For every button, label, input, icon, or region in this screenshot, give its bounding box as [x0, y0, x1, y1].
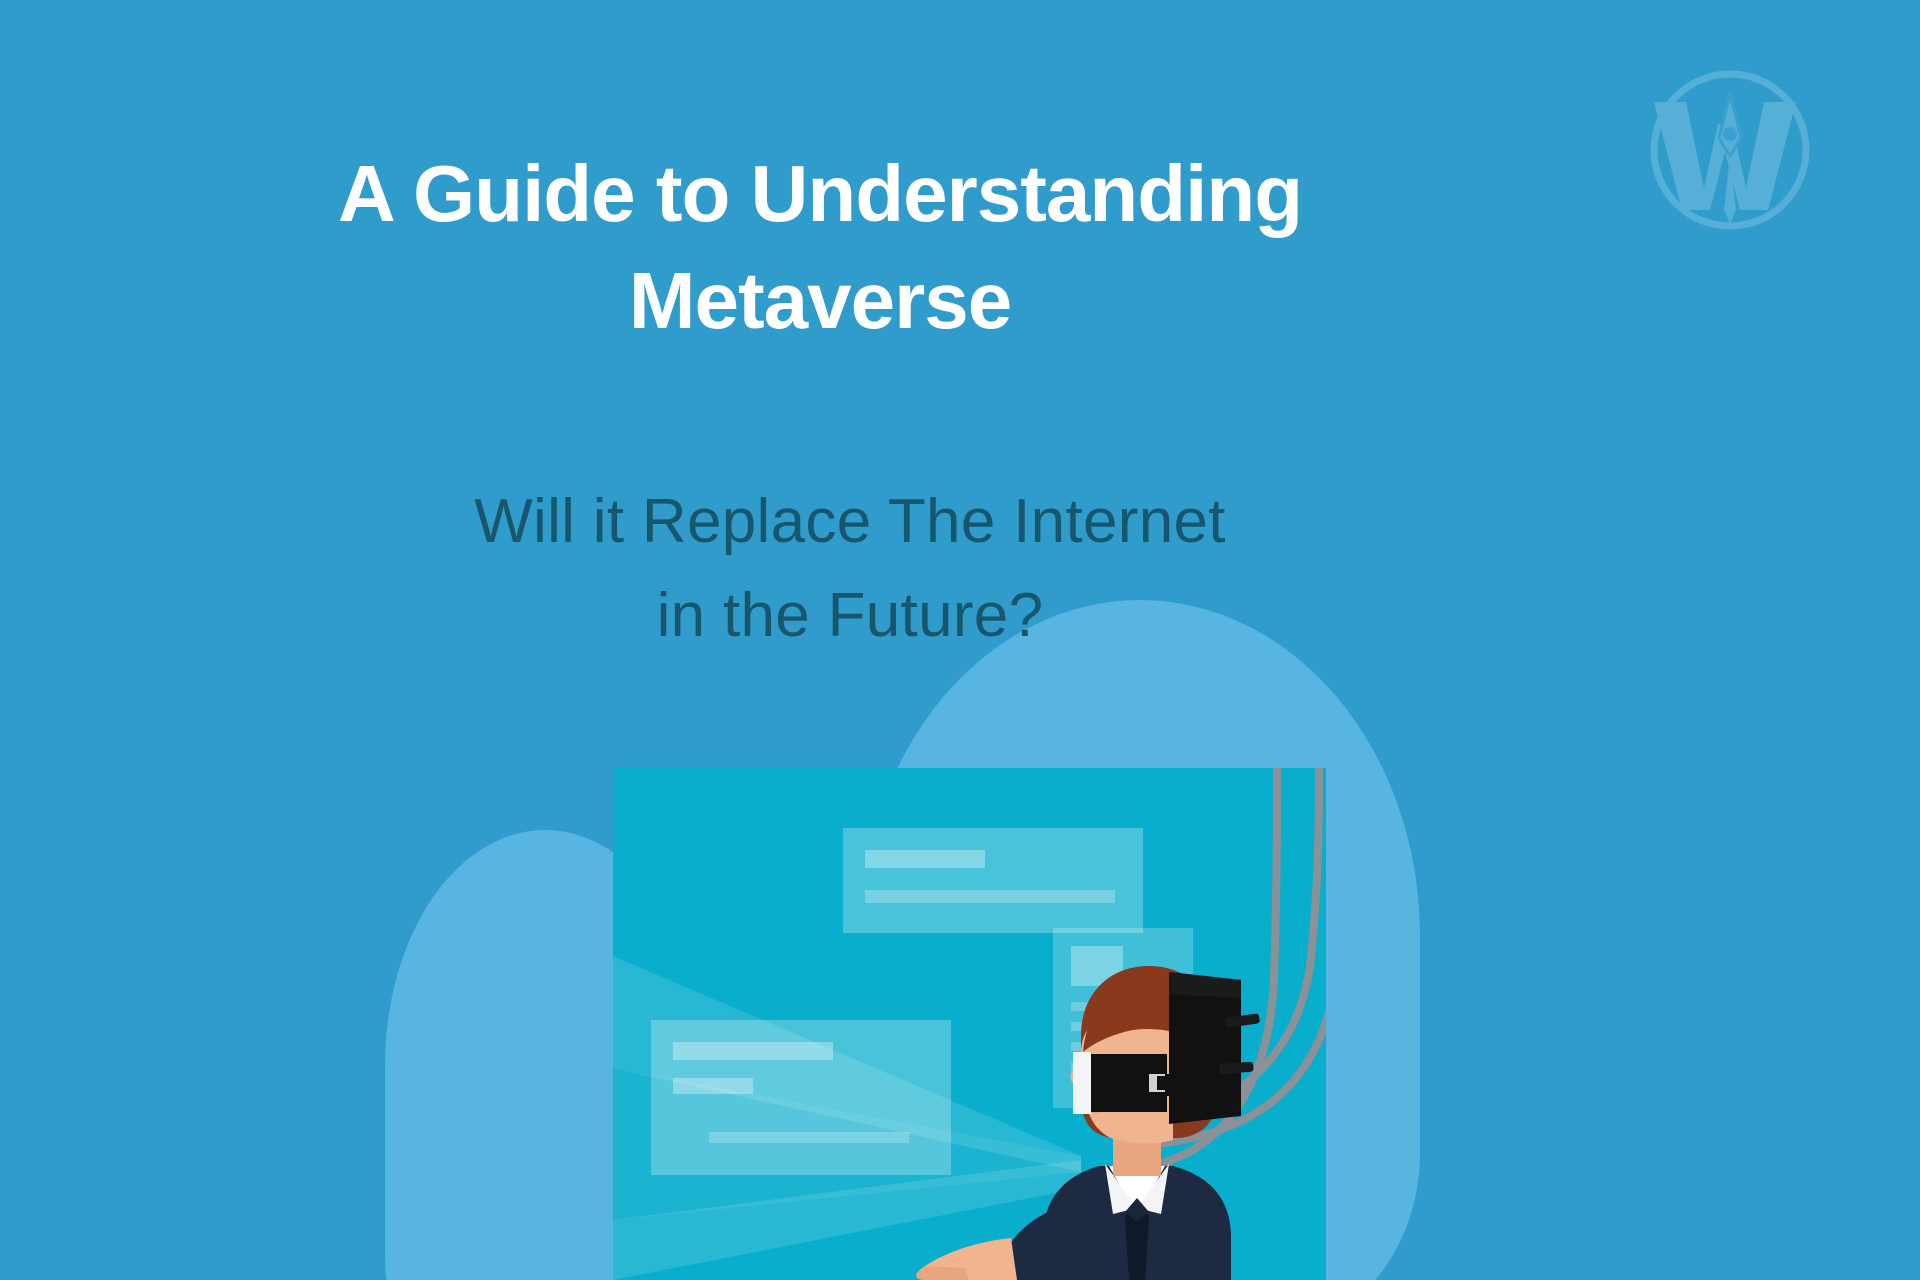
title-line-2: Metaverse	[0, 247, 1640, 354]
page-subtitle: Will it Replace The Internet in the Futu…	[0, 475, 1920, 663]
subtitle-line-2: in the Future?	[0, 569, 1700, 663]
subtitle-line-1: Will it Replace The Internet	[0, 475, 1700, 569]
poster-canvas: A Guide to Understanding Metaverse Will …	[0, 0, 1920, 1280]
vr-user-figure	[613, 768, 1326, 1280]
illustration-vr-metaverse	[613, 768, 1326, 1280]
page-title: A Guide to Understanding Metaverse	[0, 140, 1920, 354]
vr-lens-highlight	[1073, 1052, 1091, 1114]
title-line-1: A Guide to Understanding	[0, 140, 1640, 247]
